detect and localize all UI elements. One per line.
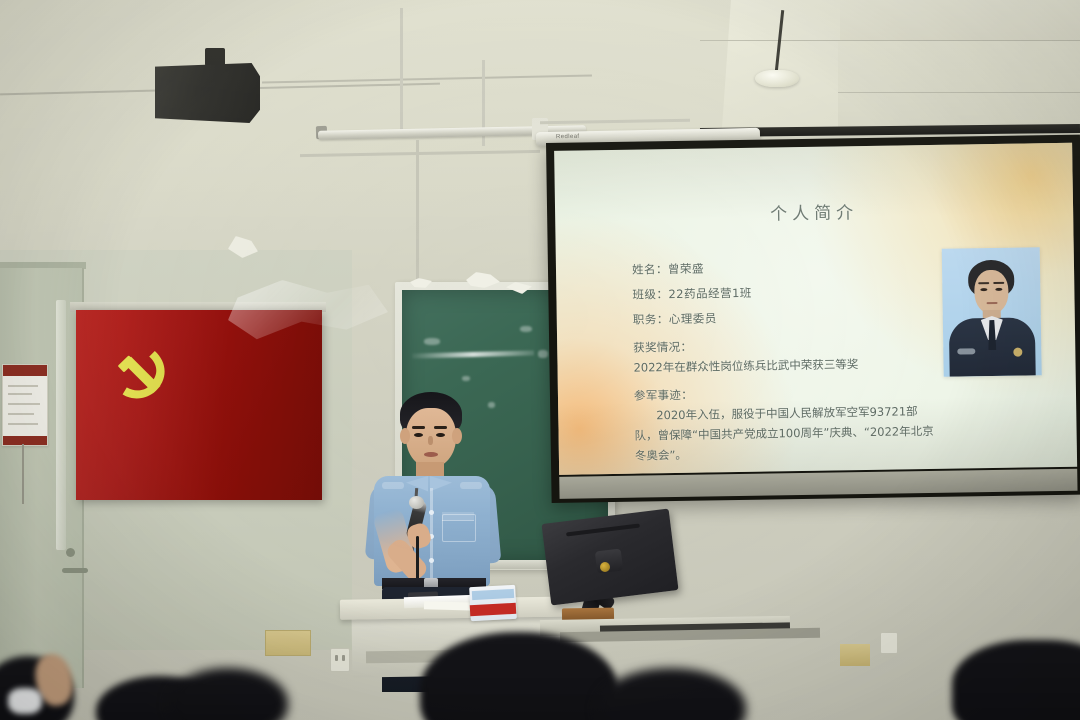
door-mullion — [56, 300, 66, 550]
outlet-slot — [342, 655, 345, 661]
speaker-brow — [434, 426, 447, 429]
poster-text-line — [8, 385, 38, 387]
speaker-nose — [428, 436, 433, 445]
slide-field-role-value: 心理委员 — [669, 311, 717, 326]
slide-field-class-value: 22药品经营1班 — [668, 286, 752, 301]
poster-footer-band — [3, 436, 47, 445]
ceiling-lamp — [755, 70, 799, 87]
ceiling-slab-lower — [838, 40, 1080, 128]
poster-header-band — [3, 365, 47, 376]
speaker-shirt-button — [429, 558, 434, 563]
speaker-pocket-flap — [442, 512, 474, 521]
slide-field-name: 姓名：曾荣盛 — [632, 255, 932, 280]
speaker-eye — [436, 433, 445, 437]
slide-field-role-label: 职务： — [633, 312, 669, 327]
speaker-epaulet-right — [460, 482, 482, 489]
wall-pipe-vertical — [416, 140, 419, 300]
slide-field-name-value: 曾荣盛 — [668, 262, 704, 277]
speaker-ear — [452, 428, 462, 444]
slide-field-class: 班级：22药品经营1班 — [632, 280, 932, 305]
speaker-ear — [400, 428, 410, 444]
door-lock[interactable] — [66, 548, 75, 557]
wall-outlet[interactable] — [880, 632, 898, 654]
photo-wing-badge — [957, 348, 975, 354]
photo-insignia — [1013, 348, 1022, 357]
speaker-epaulet-left — [382, 482, 404, 489]
speaker-mount — [205, 48, 225, 66]
outlet-slot — [335, 655, 338, 661]
party-flag — [76, 310, 322, 500]
poster-text-line — [8, 423, 38, 425]
slide-field-name-label: 姓名： — [632, 262, 668, 277]
speaker-shirt-button — [429, 510, 434, 515]
slide-field-class-label: 班级： — [632, 287, 668, 302]
slide-title: 个人简介 — [555, 195, 1073, 228]
door-handle[interactable] — [62, 568, 88, 573]
chalk-smudge — [424, 338, 440, 345]
microphone-head — [409, 496, 424, 509]
slide-body: 姓名：曾荣盛 班级：22药品经营1班 职务：心理委员 获奖情况： 2022年在群… — [632, 255, 935, 466]
photo-face — [974, 270, 1009, 315]
projection-screen: 个人简介 姓名：曾荣盛 班级：22药品经营1班 职务：心理委员 获奖情况： 20… — [546, 135, 1080, 503]
ceiling-seam — [838, 92, 1080, 93]
wall-outlet[interactable] — [330, 648, 350, 672]
photo-brow — [993, 282, 1004, 284]
chalk-smudge — [538, 350, 548, 358]
classroom-door[interactable] — [0, 268, 84, 688]
hanging-rod — [400, 8, 403, 136]
poster-text-line — [8, 413, 34, 415]
chalk-smudge — [520, 326, 532, 332]
projected-slide: 个人简介 姓名：曾荣盛 班级：22药品经营1班 职务：心理委员 获奖情况： 20… — [554, 143, 1077, 475]
wall-speaker — [155, 63, 260, 123]
speaker-eye — [414, 433, 423, 437]
monitor-arm-knob[interactable] — [600, 562, 610, 572]
slide-service-text: 2020年入伍，服役于中国人民解放军空军93721部队，曾保障“中国共产党成立1… — [634, 401, 935, 466]
hammer-and-sickle-emblem — [110, 344, 180, 414]
poster-text-line — [8, 403, 40, 405]
speaker-brow — [412, 426, 425, 429]
slide-awards-text: 2022年在群众性岗位练兵比武中荣获三等奖 — [633, 353, 933, 378]
poster-text-line — [8, 393, 32, 395]
chalk-smudge — [462, 376, 470, 381]
screenshot-root: Redleaf 个人简介 姓名：曾荣盛 班级：22药品经营1班 职务：心理委员 … — [0, 0, 1080, 720]
slide-field-role: 职务：心理委员 — [633, 305, 933, 330]
photo-brow — [978, 282, 989, 284]
audience-face-mask — [8, 688, 42, 714]
screen-brand-label: Redleaf — [556, 134, 580, 140]
photo-mouth — [987, 302, 998, 304]
ceiling-seam — [700, 40, 1080, 41]
poster-pole — [22, 444, 24, 504]
speaker-mouth — [424, 452, 438, 457]
wall-notice-poster — [2, 364, 48, 446]
wall-tan-panel — [265, 630, 311, 656]
slide-id-photo — [942, 247, 1042, 377]
wall-tan-panel — [840, 644, 870, 666]
